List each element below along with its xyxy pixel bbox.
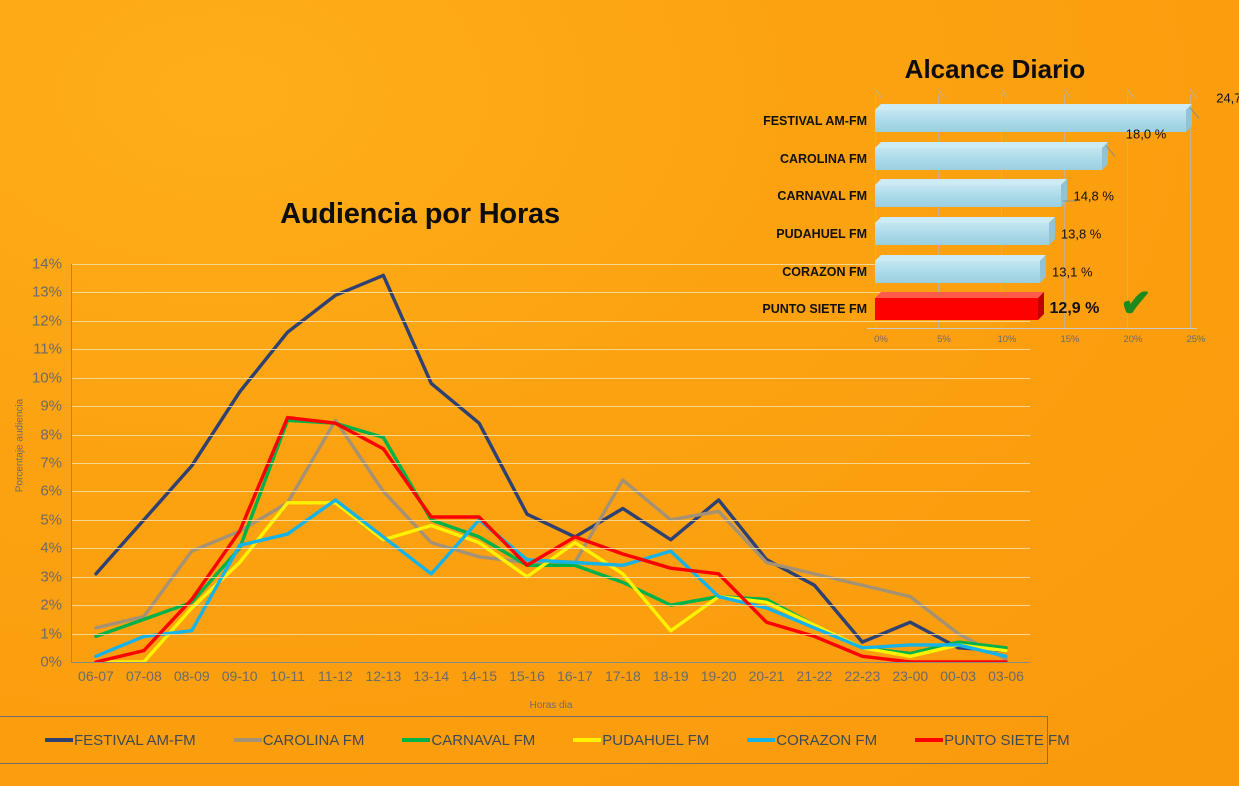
y-axis-tick: 2%: [6, 597, 62, 614]
bar-row[interactable]: CORAZON FM13,1 %: [875, 261, 1190, 283]
line-chart-legend[interactable]: FESTIVAL AM-FMCAROLINA FMCARNAVAL FMPUDA…: [0, 716, 1048, 764]
x-axis-tick: 18-19: [653, 668, 689, 684]
legend-item[interactable]: CARNAVAL FM: [402, 732, 535, 749]
y-axis-tick: 0%: [6, 654, 62, 671]
bar-x-axis-tick: 10%: [997, 334, 1016, 345]
bar-x-axis-tick: 15%: [1060, 334, 1079, 345]
legend-item-label: CORAZON FM: [776, 732, 877, 749]
bar-face: [875, 185, 1061, 207]
bar-side-face: [1049, 217, 1055, 245]
legend-item-label: PUDAHUEL FM: [602, 732, 709, 749]
x-axis-tick: 00-03: [940, 668, 976, 684]
check-mark-icon: ✔: [1120, 285, 1152, 323]
legend-color-swatch: [747, 738, 775, 742]
bar-gridline: [1190, 94, 1191, 328]
x-axis-tick: 22-23: [844, 668, 880, 684]
legend-item[interactable]: CORAZON FM: [747, 732, 877, 749]
legend-item-label: CARNAVAL FM: [431, 732, 535, 749]
x-axis-tick: 23-00: [892, 668, 928, 684]
bar-category-label: PUDAHUEL FM: [776, 227, 867, 241]
bar-face: [875, 298, 1038, 320]
y-axis-tick: 3%: [6, 568, 62, 585]
bar-value-label: 12,9 %: [1050, 300, 1100, 318]
bar-top-face: [875, 217, 1055, 223]
legend-item[interactable]: PUDAHUEL FM: [573, 732, 709, 749]
x-axis-tick: 21-22: [797, 668, 833, 684]
legend-item-label: PUNTO SIETE FM: [944, 732, 1070, 749]
bar[interactable]: [875, 148, 1102, 170]
x-axis-title: Horas dia: [72, 700, 1030, 711]
legend-item-label: CAROLINA FM: [263, 732, 365, 749]
bar-side-face: [1038, 292, 1044, 320]
bar-category-label: CAROLINA FM: [780, 152, 867, 166]
legend-item-label: FESTIVAL AM-FM: [74, 732, 196, 749]
bar-chart-baseline: [867, 328, 1197, 329]
bar[interactable]: [875, 261, 1040, 283]
bar-x-axis-tick: 5%: [937, 334, 951, 345]
x-axis-tick: 06-07: [78, 668, 114, 684]
bar[interactable]: [875, 298, 1038, 320]
legend-color-swatch: [573, 738, 601, 742]
legend-item[interactable]: CAROLINA FM: [234, 732, 365, 749]
y-axis-tick: 12%: [6, 312, 62, 329]
x-axis-tick: 19-20: [701, 668, 737, 684]
bar-top-face: [875, 104, 1192, 110]
x-axis-tick: 08-09: [174, 668, 210, 684]
x-axis-tick: 16-17: [557, 668, 593, 684]
x-axis-tick: 17-18: [605, 668, 641, 684]
x-axis-tick: 07-08: [126, 668, 162, 684]
y-axis-title: Porcentaje audiencia: [15, 376, 26, 516]
x-axis-tick: 09-10: [222, 668, 258, 684]
bar-category-label: PUNTO SIETE FM: [762, 302, 867, 316]
bar-face: [875, 148, 1102, 170]
y-axis-tick: 1%: [6, 625, 62, 642]
legend-color-swatch: [915, 738, 943, 742]
y-axis-tick: 14%: [6, 256, 62, 273]
x-axis-tick: 20-21: [749, 668, 785, 684]
x-axis-tick: 11-12: [318, 668, 353, 684]
bar-row[interactable]: CARNAVAL FM14,8 %: [875, 185, 1190, 207]
legend-item[interactable]: FESTIVAL AM-FM: [45, 732, 196, 749]
x-axis-tick: 14-15: [461, 668, 497, 684]
legend-item[interactable]: PUNTO SIETE FM: [915, 732, 1070, 749]
bar-side-face: [1040, 255, 1046, 283]
bar-top-face: [875, 179, 1067, 185]
y-axis-tick: 4%: [6, 540, 62, 557]
x-axis-tick: 03-06: [988, 668, 1024, 684]
bar-x-axis-tick-labels: 0%5%10%15%20%25%: [875, 334, 1190, 350]
y-axis-tick: 13%: [6, 284, 62, 301]
bar-x-axis-tick: 20%: [1123, 334, 1142, 345]
bar-face: [875, 223, 1049, 245]
bar-value-label: 24,7 %: [1216, 90, 1239, 105]
bar-top-face: [875, 292, 1044, 298]
bar-value-label: 14,8 %: [1073, 189, 1113, 204]
x-axis-tick: 10-11: [270, 668, 305, 684]
legend-color-swatch: [402, 738, 430, 742]
bar-face: [875, 261, 1040, 283]
bar-chart-title: Alcance Diario: [795, 54, 1195, 85]
bar-x-axis-tick: 0%: [874, 334, 888, 345]
bar-category-label: CORAZON FM: [782, 265, 867, 279]
bar[interactable]: [875, 223, 1049, 245]
bar-value-label: 13,1 %: [1052, 264, 1092, 279]
x-axis-tick-labels: 06-0707-0808-0909-1010-1111-1212-1313-14…: [72, 668, 1030, 690]
bar-row[interactable]: CAROLINA FM18,0 %: [875, 148, 1190, 170]
bar-row[interactable]: PUDAHUEL FM13,8 %: [875, 223, 1190, 245]
legend-color-swatch: [234, 738, 262, 742]
bar-category-label: FESTIVAL AM-FM: [763, 114, 867, 128]
bar-category-label: CARNAVAL FM: [777, 189, 867, 203]
bar-top-face: [875, 255, 1046, 261]
bar-chart-panel: Alcance Diario FESTIVAL AM-FM24,7 %CAROL…: [735, 46, 1239, 356]
legend-color-swatch: [45, 738, 73, 742]
bar[interactable]: [875, 185, 1061, 207]
bar-top-face: [875, 142, 1108, 148]
bar-value-label: 13,8 %: [1061, 226, 1101, 241]
bar-x-axis-tick: 25%: [1186, 334, 1205, 345]
x-axis-tick: 12-13: [365, 668, 401, 684]
x-axis-tick: 15-16: [509, 668, 545, 684]
x-axis-tick: 13-14: [413, 668, 449, 684]
y-axis-tick: 11%: [6, 341, 62, 358]
line-chart-title: Audiencia por Horas: [0, 198, 840, 231]
bar-value-label: 18,0 %: [1126, 126, 1166, 141]
bar-side-face: [1061, 179, 1067, 207]
x-axis-line: [71, 662, 1030, 663]
